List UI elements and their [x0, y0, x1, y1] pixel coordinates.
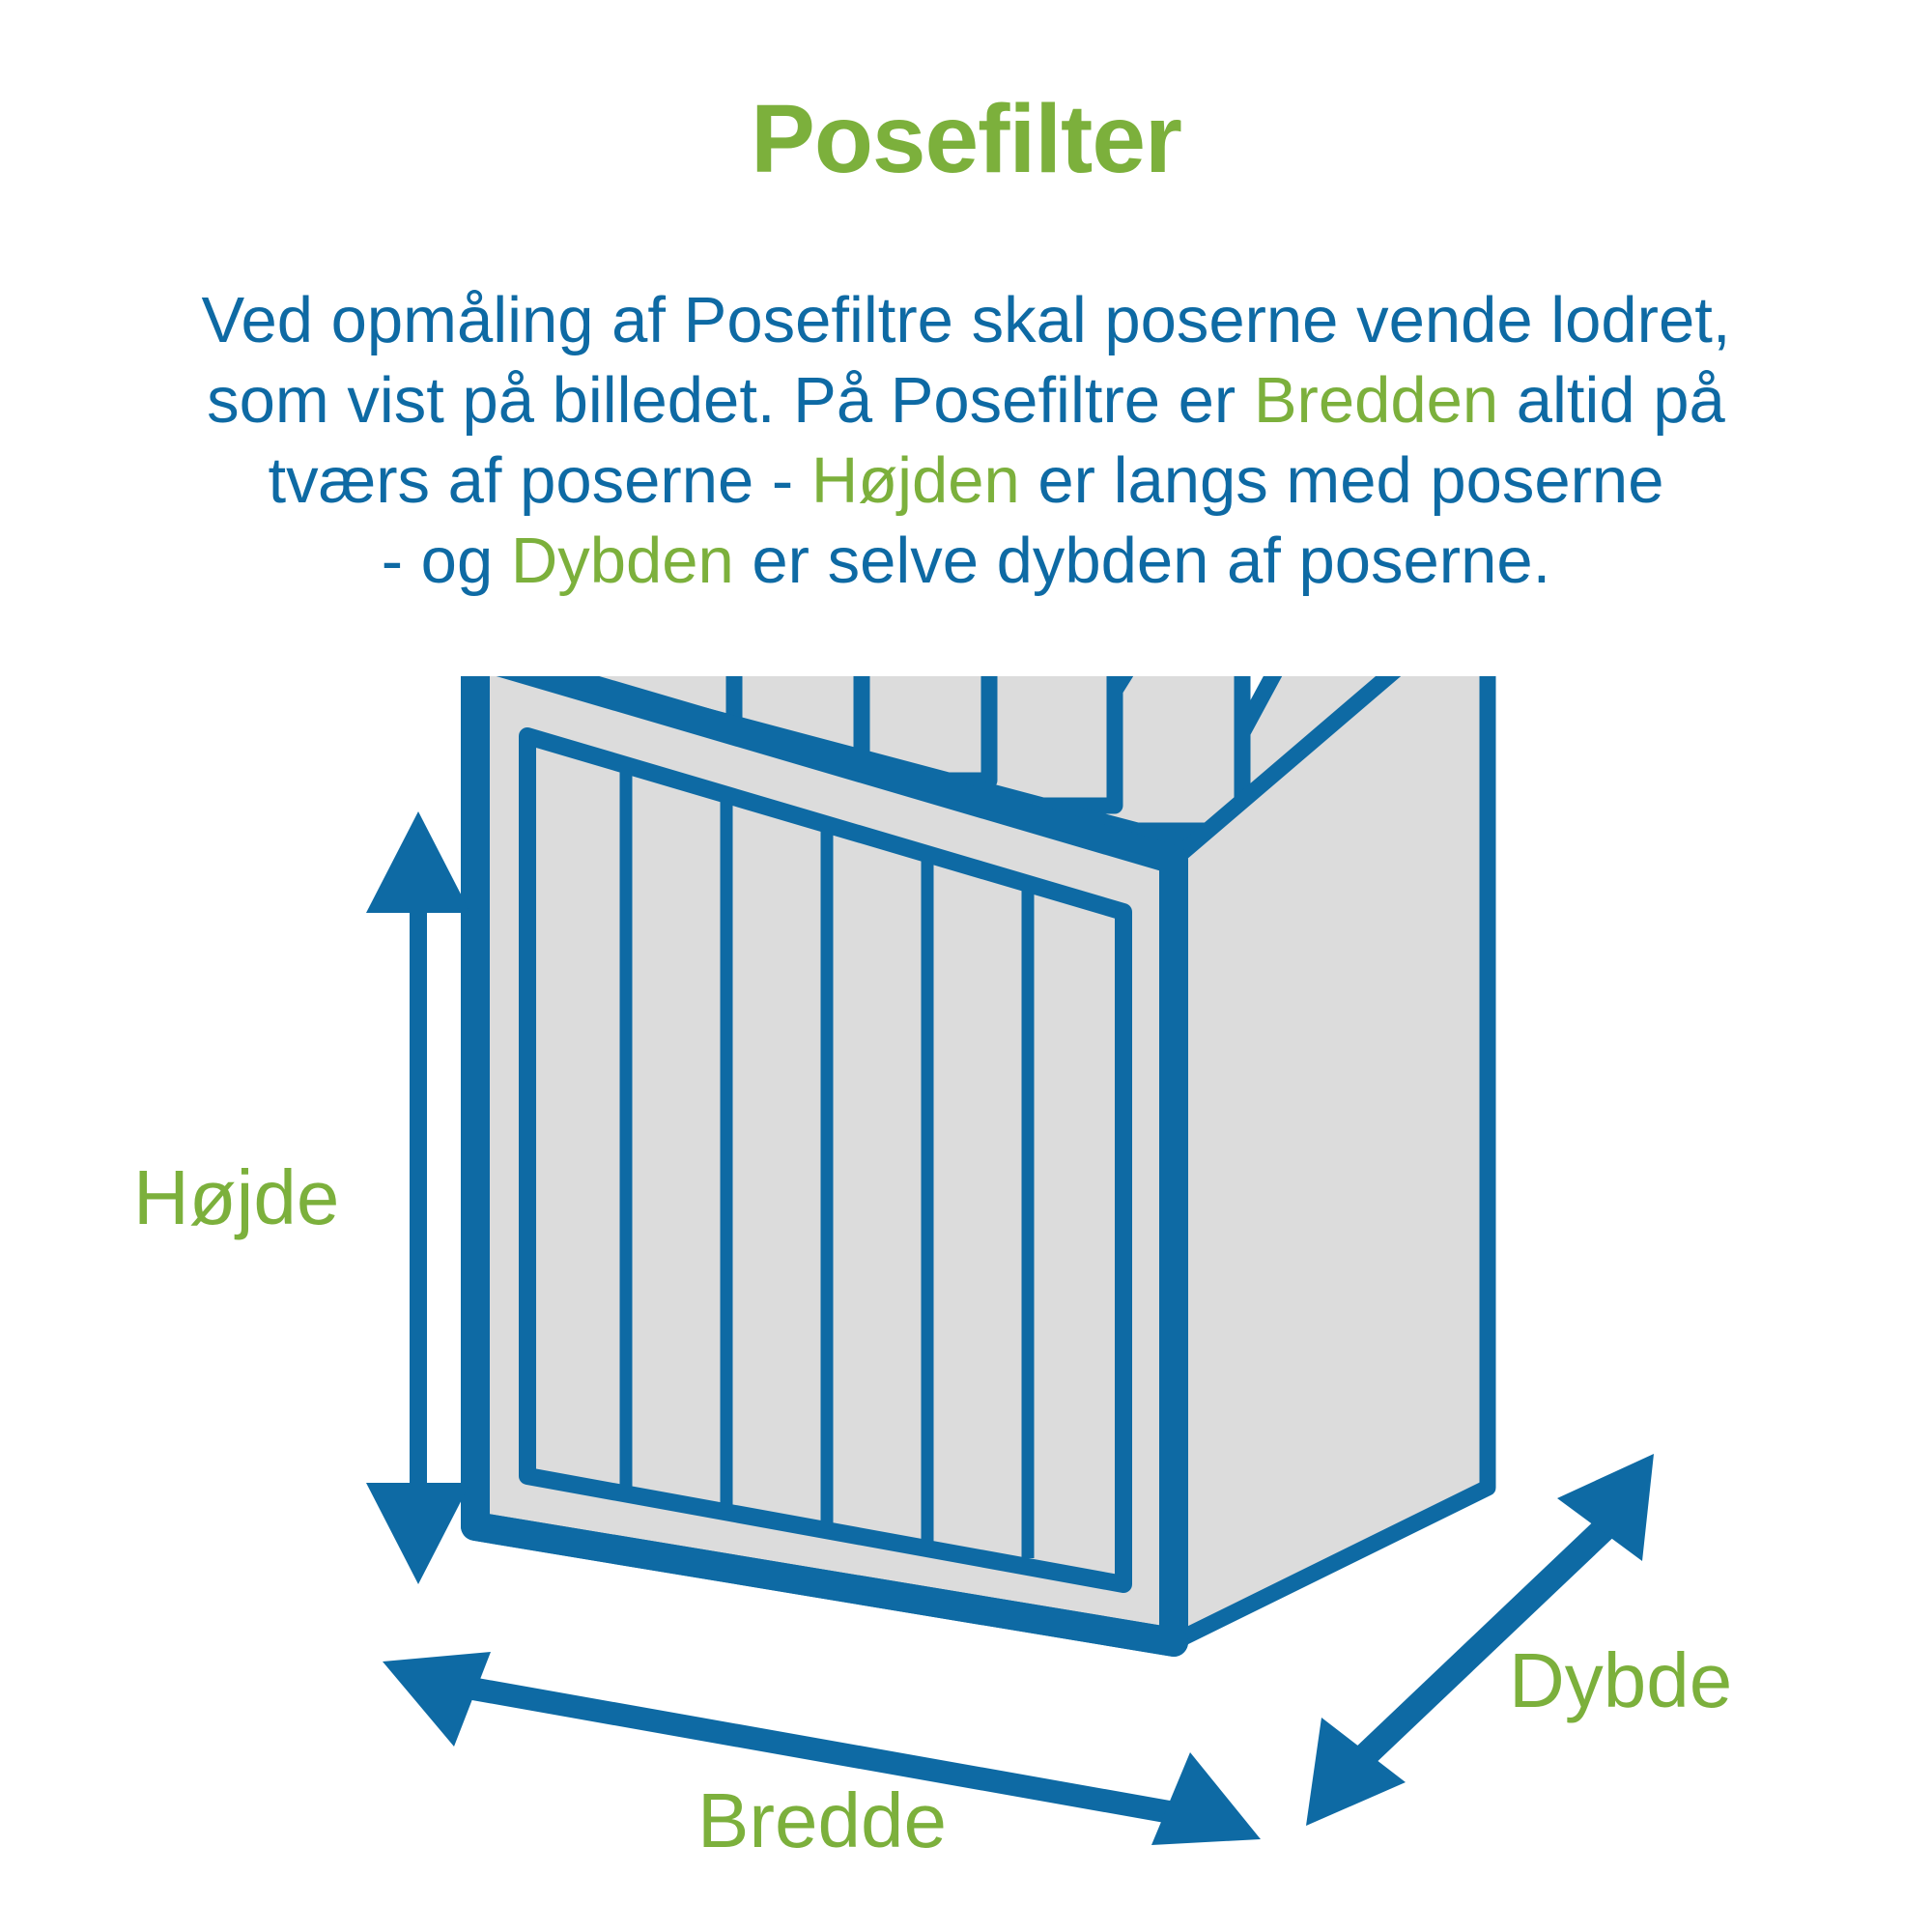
dimension-label-width: Bredde [697, 1782, 947, 1860]
bag-filter-diagram [0, 676, 1932, 1932]
highlight-dybden: Dybden [511, 525, 734, 597]
height-dimension-arrow [366, 811, 470, 1584]
intro-line2-text-a: som vist på billedet. På Posefiltre er [207, 364, 1254, 437]
width-arrow-head-right [1151, 1752, 1261, 1845]
poster-canvas: Posefilter Ved opmåling af Posefiltre sk… [0, 0, 1932, 1932]
intro-line3-text-b: er langs med poserne [1020, 444, 1664, 517]
intro-paragraph: Ved opmåling af Posefiltre skal poserne … [82, 280, 1850, 601]
highlight-bredden: Bredden [1254, 364, 1498, 437]
height-arrow-shaft [410, 855, 427, 1541]
filter-right-side-face [1174, 676, 1488, 1642]
highlight-hojden: Højden [811, 444, 1020, 517]
page-title: Posefilter [0, 89, 1932, 190]
dimension-label-height: Højde [133, 1159, 339, 1236]
dimension-label-depth: Dybde [1509, 1642, 1732, 1719]
intro-line4-text-b: er selve dybden af poserne. [734, 525, 1550, 597]
height-arrow-head-up [366, 811, 470, 913]
intro-line1-text: Ved opmåling af Posefiltre skal poserne … [202, 284, 1731, 356]
intro-line2-text-b: altid på [1498, 364, 1725, 437]
intro-line3-text-a: tværs af poserne - [269, 444, 811, 517]
intro-line4-text-a: - og [382, 525, 511, 597]
height-arrow-head-down [366, 1483, 470, 1584]
